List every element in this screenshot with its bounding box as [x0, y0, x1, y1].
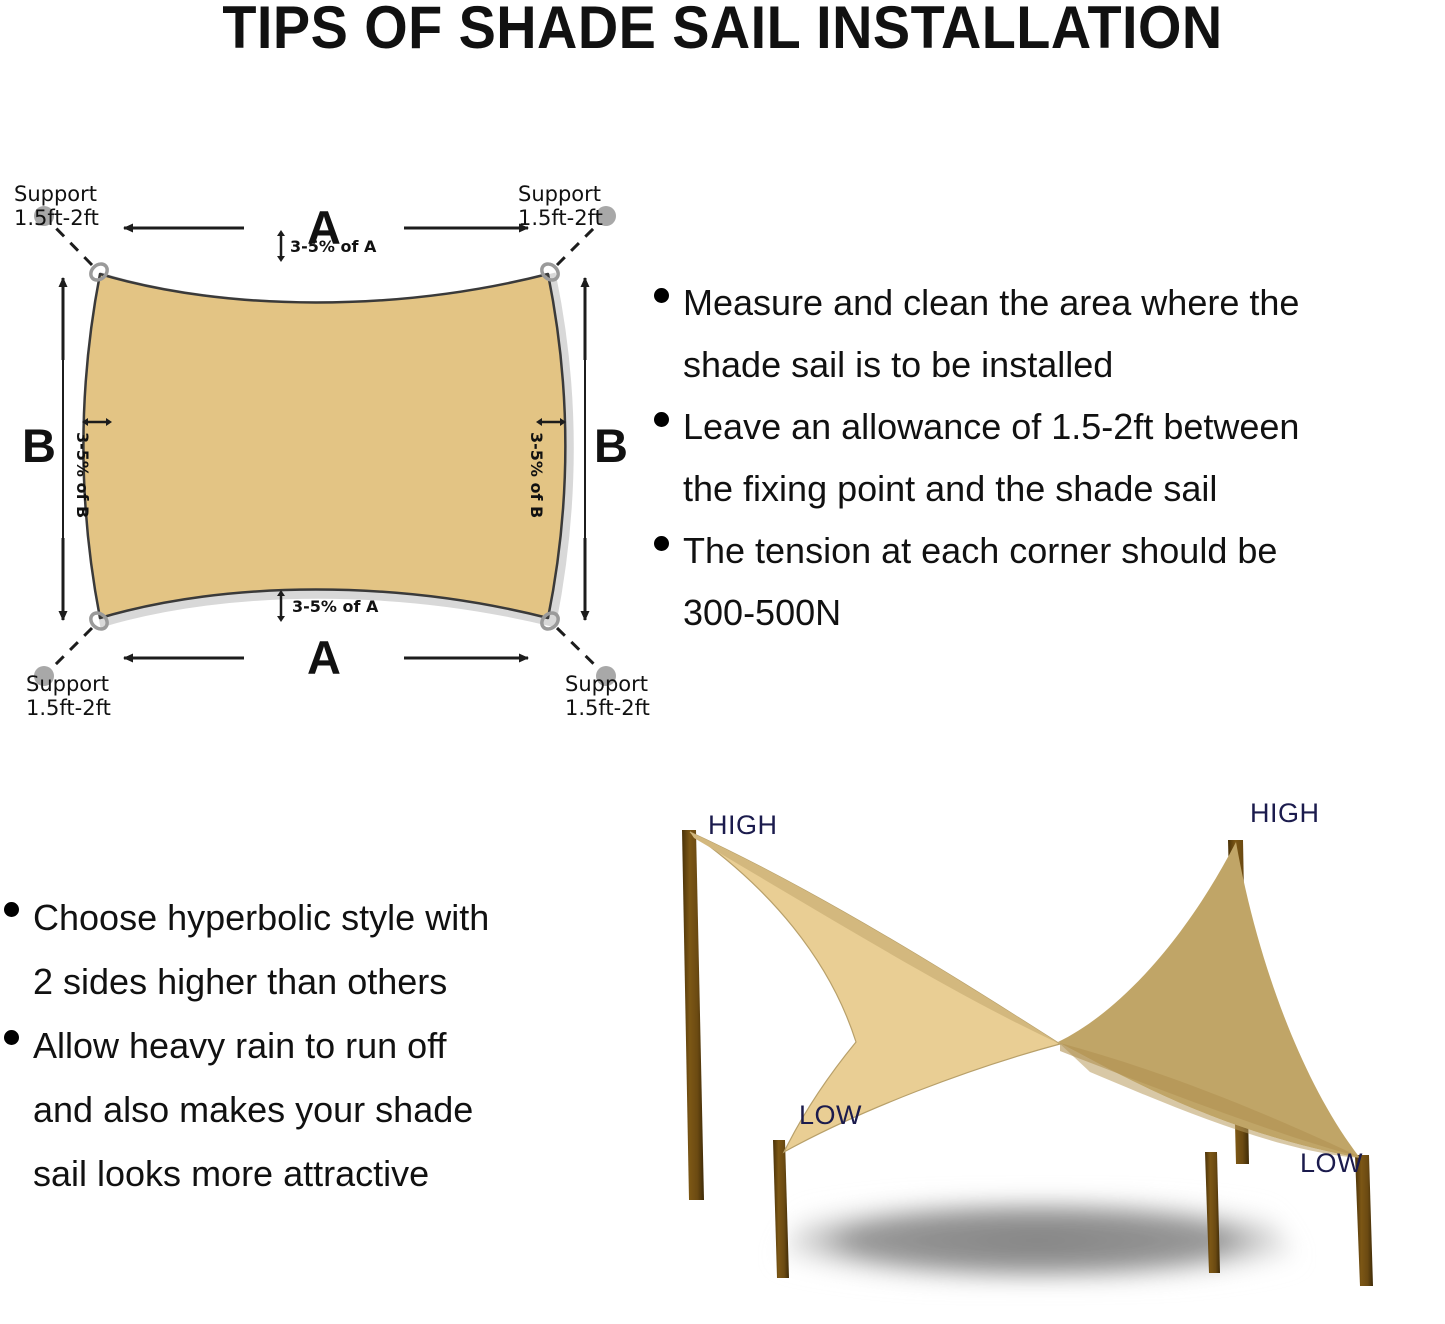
- dimension-letter-B-left: B: [22, 422, 56, 469]
- list-item: Leave an allowance of 1.5-2ft between th…: [654, 396, 1445, 520]
- curve-label-top: 3-5% of A: [290, 238, 376, 255]
- list-item-line: Allow heavy rain to run off: [33, 1014, 473, 1078]
- list-item-line: Leave an allowance of 1.5-2ft between: [683, 396, 1299, 458]
- support-label-line1: Support: [14, 182, 97, 206]
- list-item: Measure and clean the area where the sha…: [654, 272, 1445, 396]
- sag-tick-bottom: [277, 590, 285, 622]
- list-item-line: Choose hyperbolic style with: [33, 886, 489, 950]
- list-item-text: Choose hyperbolic style with 2 sides hig…: [33, 886, 489, 1014]
- sail-panel-back: [1058, 842, 1360, 1158]
- list-item-text: The tension at each corner should be 300…: [683, 520, 1277, 644]
- support-label-bottom-right: Support 1.5ft-2ft: [565, 672, 650, 720]
- curve-label-right: 3-5% of B: [528, 432, 545, 518]
- hyperbolic-sail-illustration: HIGH HIGH LOW LOW: [660, 780, 1445, 1319]
- support-label-line1: Support: [26, 672, 109, 696]
- label-high-left: HIGH: [708, 810, 778, 840]
- support-label-line2: 1.5ft-2ft: [518, 206, 603, 230]
- list-item: The tension at each corner should be 300…: [654, 520, 1445, 644]
- list-item-line: Measure and clean the area where the: [683, 272, 1299, 334]
- label-low-right: LOW: [1300, 1148, 1363, 1178]
- support-label-top-right: Support 1.5ft-2ft: [518, 182, 603, 230]
- pole-high-left: [682, 830, 704, 1200]
- support-label-line2: 1.5ft-2ft: [565, 696, 650, 720]
- bullet-dot-icon: [654, 412, 669, 427]
- list-item-line: sail looks more attractive: [33, 1142, 473, 1206]
- list-item-line: and also makes your shade: [33, 1078, 473, 1142]
- list-item-line: 300-500N: [683, 582, 1277, 644]
- bullet-dot-icon: [654, 536, 669, 551]
- support-label-line2: 1.5ft-2ft: [26, 696, 111, 720]
- list-item-text: Leave an allowance of 1.5-2ft between th…: [683, 396, 1299, 520]
- dimension-letter-A-bottom: A: [307, 634, 341, 681]
- support-label-line1: Support: [518, 182, 601, 206]
- label-low-left: LOW: [799, 1100, 862, 1130]
- curve-label-left: 3-5% of B: [74, 432, 91, 518]
- bullet-dot-icon: [4, 902, 19, 917]
- list-item-line: The tension at each corner should be: [683, 520, 1277, 582]
- support-label-bottom-left: Support 1.5ft-2ft: [26, 672, 111, 720]
- list-item: Allow heavy rain to run off and also mak…: [4, 1014, 624, 1206]
- support-label-line1: Support: [565, 672, 648, 696]
- label-high-right: HIGH: [1250, 798, 1320, 828]
- list-item-line: 2 sides higher than others: [33, 950, 489, 1014]
- sag-tick-top: [277, 230, 285, 262]
- tips-list-hyperbolic: Choose hyperbolic style with 2 sides hig…: [4, 886, 624, 1206]
- list-item-line: shade sail is to be installed: [683, 334, 1299, 396]
- list-item-text: Measure and clean the area where the sha…: [683, 272, 1299, 396]
- curve-label-bottom: 3-5% of A: [292, 598, 378, 615]
- pole-low-left: [773, 1140, 789, 1278]
- bullet-dot-icon: [4, 1030, 19, 1045]
- list-item-line: the fixing point and the shade sail: [683, 458, 1299, 520]
- ground-shadow: [762, 1198, 1312, 1283]
- bullet-dot-icon: [654, 288, 669, 303]
- list-item-text: Allow heavy rain to run off and also mak…: [33, 1014, 473, 1206]
- sail-panel-front: [690, 832, 1060, 1152]
- list-item: Choose hyperbolic style with 2 sides hig…: [4, 886, 624, 1014]
- support-label-top-left: Support 1.5ft-2ft: [14, 182, 99, 230]
- sail-scene-svg: [660, 780, 1445, 1319]
- page-title: TIPS OF SHADE SAIL INSTALLATION: [51, 0, 1395, 60]
- sail-body: [84, 274, 566, 618]
- rectangle-sail-diagram: Support 1.5ft-2ft Support 1.5ft-2ft Supp…: [0, 160, 660, 730]
- tips-list-installation: Measure and clean the area where the sha…: [654, 272, 1445, 644]
- support-label-line2: 1.5ft-2ft: [14, 206, 99, 230]
- dimension-letter-B-right: B: [594, 422, 628, 469]
